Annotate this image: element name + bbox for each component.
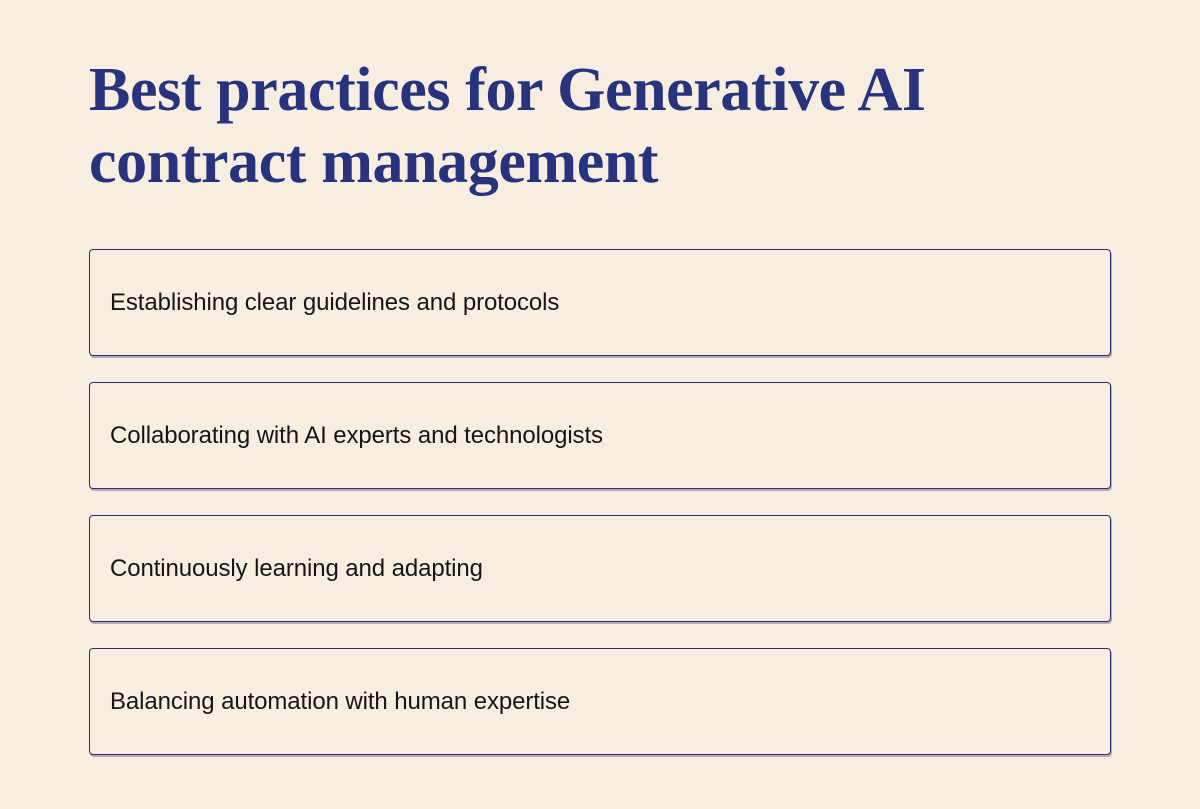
- page-title: Best practices for Generative AI contrac…: [89, 54, 1109, 198]
- practice-label: Establishing clear guidelines and protoc…: [110, 288, 559, 318]
- practice-label: Balancing automation with human expertis…: [110, 687, 570, 717]
- practice-box-3[interactable]: Continuously learning and adapting: [89, 515, 1111, 622]
- practice-box-4[interactable]: Balancing automation with human expertis…: [89, 648, 1111, 755]
- title-block: Best practices for Generative AI contrac…: [89, 54, 1109, 198]
- practice-label: Continuously learning and adapting: [110, 554, 483, 584]
- infographic-root: Best practices for Generative AI contrac…: [0, 0, 1200, 809]
- best-practices-list: Establishing clear guidelines and protoc…: [89, 249, 1111, 755]
- practice-label: Collaborating with AI experts and techno…: [110, 421, 603, 451]
- practice-box-2[interactable]: Collaborating with AI experts and techno…: [89, 382, 1111, 489]
- practice-box-1[interactable]: Establishing clear guidelines and protoc…: [89, 249, 1111, 356]
